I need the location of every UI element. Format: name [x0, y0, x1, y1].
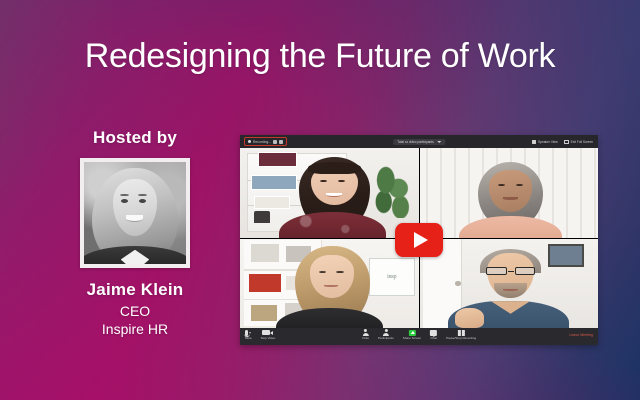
exit-full-screen-button[interactable]: Exit Full Screen: [564, 140, 593, 144]
leave-meeting-button[interactable]: Leave Meeting: [569, 333, 593, 337]
chat-bubble-icon: [430, 330, 437, 336]
pause-stop-recording-label: Pause/Stop Recording: [446, 337, 476, 340]
zoom-top-bar: Recording... Total xx video participants…: [240, 135, 598, 148]
share-screen-button[interactable]: Share Screen: [403, 329, 421, 340]
pause-icon[interactable]: [273, 140, 277, 144]
speaker-view-label: Speaker View: [538, 140, 558, 144]
video-tile-bottom-left[interactable]: insp: [240, 239, 419, 329]
participants-icon: [382, 329, 389, 336]
recording-label: Recording...: [253, 140, 271, 144]
share-screen-icon: [408, 330, 415, 336]
video-tile-top-left[interactable]: [240, 148, 419, 238]
camera-icon: [262, 330, 270, 335]
chat-button[interactable]: Chat: [430, 329, 437, 340]
top-bar-right-controls: Speaker View Exit Full Screen: [532, 140, 593, 144]
participants-button[interactable]: Participants: [378, 329, 394, 340]
participants-count-dropdown[interactable]: Total xx video participants: [393, 139, 445, 145]
video-player[interactable]: Recording... Total xx video participants…: [240, 135, 598, 345]
bottom-bar-left-controls: Mute Stop Video: [245, 329, 275, 340]
avatar: [84, 162, 186, 264]
participants-count-label: Total xx video participants: [397, 140, 434, 144]
stop-video-label: Stop Video: [261, 337, 276, 340]
pause-stop-recording-button[interactable]: Pause/Stop Recording: [446, 329, 476, 340]
hosted-by-label: Hosted by: [42, 128, 228, 148]
record-icon: [458, 330, 465, 336]
invite-button[interactable]: Invite: [362, 329, 369, 340]
host-organization: Inspire HR: [42, 320, 228, 338]
host-role: CEO: [42, 302, 228, 320]
invite-label: Invite: [362, 337, 369, 340]
zoom-bottom-bar: Mute Stop Video Invite Particip: [240, 328, 598, 345]
bottom-bar-center-controls: Invite Participants Share Screen Chat Pa…: [362, 329, 476, 340]
video-tile-bottom-right[interactable]: [420, 239, 599, 329]
play-triangle-icon: [414, 232, 428, 248]
host-photo-frame: [80, 158, 190, 268]
share-screen-label: Share Screen: [403, 337, 421, 340]
page-title: Redesigning the Future of Work: [0, 38, 640, 75]
speaker-view-icon: [532, 140, 536, 144]
recording-dot-icon: [248, 140, 251, 143]
invite-person-icon: [362, 329, 369, 336]
participants-label: Participants: [378, 337, 394, 340]
inspire-hr-sign-text: insp: [387, 274, 396, 280]
stop-video-button[interactable]: Stop Video: [261, 329, 276, 340]
exit-full-screen-label: Exit Full Screen: [571, 140, 593, 144]
inspire-hr-sign: insp: [369, 258, 415, 296]
webinar-title-slide: Redesigning the Future of Work Hosted by…: [0, 0, 640, 400]
recording-indicator: Recording...: [244, 137, 287, 146]
exit-fullscreen-icon: [564, 140, 569, 144]
video-tile-top-right[interactable]: [420, 148, 599, 238]
mute-label: Mute: [245, 337, 252, 340]
mute-button[interactable]: Mute: [245, 329, 252, 340]
chevron-down-icon: [437, 141, 441, 143]
microphone-icon: [245, 330, 248, 336]
chat-label: Chat: [430, 337, 436, 340]
speaker-view-button[interactable]: Speaker View: [532, 140, 558, 144]
host-block: Hosted by Jaime Klein CEO Inspire HR: [42, 128, 228, 339]
youtube-play-icon[interactable]: [395, 223, 443, 257]
host-name: Jaime Klein: [42, 280, 228, 300]
stop-icon[interactable]: [279, 140, 283, 144]
